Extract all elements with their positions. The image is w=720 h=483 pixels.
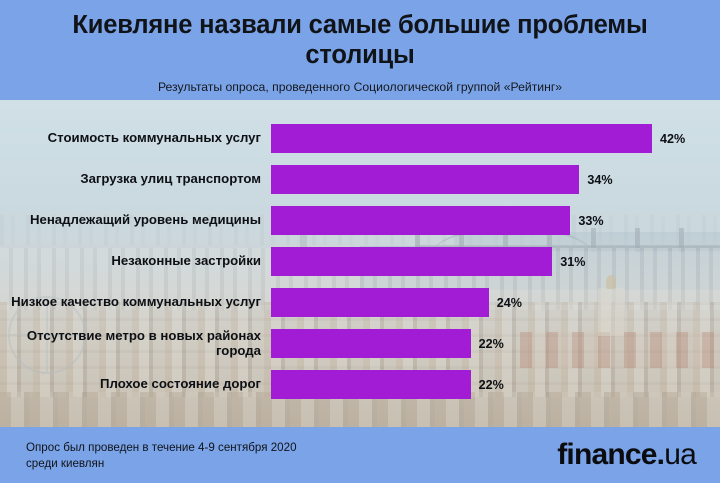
footer-band: Опрос был проведен в течение 4-9 сентябр… [0, 427, 720, 483]
chart-row: Ненадлежащий уровень медицины33% [0, 206, 720, 235]
bar-category-label: Низкое качество коммунальных услуг [0, 295, 271, 310]
bar-category-label: Загрузка улиц транспортом [0, 172, 271, 187]
bar-track: 22% [271, 370, 720, 399]
bar-chart: Стоимость коммунальных услуг42%Загрузка … [0, 100, 720, 427]
bar [271, 247, 552, 276]
bar-value-label: 31% [560, 255, 585, 269]
bar-category-label: Плохое состояние дорог [0, 377, 271, 392]
finance-ua-logo[interactable]: finance.ua [557, 440, 696, 470]
bar-category-label: Незаконные застройки [0, 254, 271, 269]
page-title: Киевляне назвали самые большие проблемы … [0, 0, 720, 71]
bar-value-label: 34% [587, 173, 612, 187]
chart-row: Загрузка улиц транспортом34% [0, 165, 720, 194]
bar [271, 124, 652, 153]
bar-track: 42% [271, 124, 720, 153]
chart-row: Стоимость коммунальных услуг42% [0, 124, 720, 153]
bar [271, 206, 570, 235]
bar-track: 34% [271, 165, 720, 194]
bar-value-label: 33% [578, 214, 603, 228]
header-band: Киевляне назвали самые большие проблемы … [0, 0, 720, 100]
bar [271, 329, 471, 358]
bar [271, 370, 471, 399]
chart-row: Незаконные застройки31% [0, 247, 720, 276]
bar [271, 288, 489, 317]
bar-value-label: 22% [479, 378, 504, 392]
chart-row: Плохое состояние дорог22% [0, 370, 720, 399]
chart-row: Отсутствие метро в новых районах города2… [0, 329, 720, 358]
bar-category-label: Отсутствие метро в новых районах города [0, 329, 271, 359]
bar-track: 24% [271, 288, 720, 317]
bar-track: 31% [271, 247, 720, 276]
bar [271, 165, 579, 194]
logo-tld: ua [664, 438, 696, 471]
bar-category-label: Стоимость коммунальных услуг [0, 131, 271, 146]
bar-track: 22% [271, 329, 720, 358]
chart-row: Низкое качество коммунальных услуг24% [0, 288, 720, 317]
logo-wordmark: finance [557, 438, 656, 471]
infographic-poster: Киевляне назвали самые большие проблемы … [0, 0, 720, 483]
bar-value-label: 42% [660, 132, 685, 146]
survey-note: Опрос был проведен в течение 4-9 сентябр… [26, 440, 326, 472]
page-subtitle: Результаты опроса, проведенного Социолог… [0, 71, 720, 94]
bar-category-label: Ненадлежащий уровень медицины [0, 213, 271, 228]
bar-track: 33% [271, 206, 720, 235]
bar-value-label: 22% [479, 337, 504, 351]
bar-value-label: 24% [497, 296, 522, 310]
